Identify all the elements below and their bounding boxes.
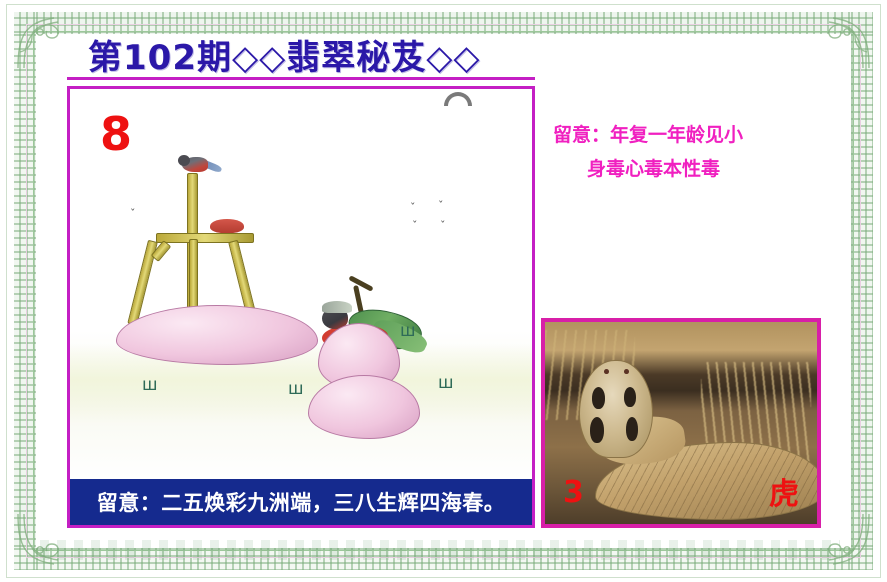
page-title: 第102期◇◇翡翠秘芨◇◇ xyxy=(88,30,481,79)
distant-bird-icon xyxy=(410,201,416,214)
illustration-number: 8 xyxy=(100,111,132,157)
note-block: 留意：年复一年龄见小 身毒心毒本性毒 xyxy=(553,118,823,186)
illustration-canvas: 8 xyxy=(70,89,532,479)
title-underline xyxy=(67,77,535,80)
bird-crest xyxy=(322,301,352,313)
snake-eye xyxy=(624,369,629,374)
note-line-2: 身毒心毒本性毒 xyxy=(553,152,823,186)
snake-marking xyxy=(590,417,604,443)
snake-marking xyxy=(592,387,605,409)
perched-bird xyxy=(176,155,220,177)
arc-mark-icon xyxy=(444,92,472,106)
snake-hood xyxy=(579,360,653,458)
distant-bird-icon xyxy=(440,219,446,232)
photo-zodiac-label: 虎 xyxy=(769,480,799,510)
easel-crossbar xyxy=(156,233,254,243)
snake-marking xyxy=(624,387,636,407)
poster-root: 第102期◇◇翡翠秘芨◇◇ 8 xyxy=(0,0,887,582)
snake-eye xyxy=(604,369,609,374)
snake-marking xyxy=(626,417,638,441)
distant-bird-icon xyxy=(438,199,444,212)
illustration-panel[interactable]: 8 xyxy=(67,86,535,528)
distant-bird-icon xyxy=(130,207,136,220)
distant-bird-icon xyxy=(412,219,418,232)
note-line-1: 留意：年复一年龄见小 xyxy=(553,118,823,152)
branch-icon xyxy=(348,275,373,292)
rock-left xyxy=(116,305,318,365)
photo-number: 3 xyxy=(563,478,584,508)
bird-head xyxy=(178,155,190,166)
snake-photo[interactable]: 3 虎 xyxy=(541,318,821,528)
nest-eggs xyxy=(210,219,244,233)
illustration-caption: 留意：二五焕彩九洲端，三八生辉四海春。 xyxy=(70,479,532,525)
